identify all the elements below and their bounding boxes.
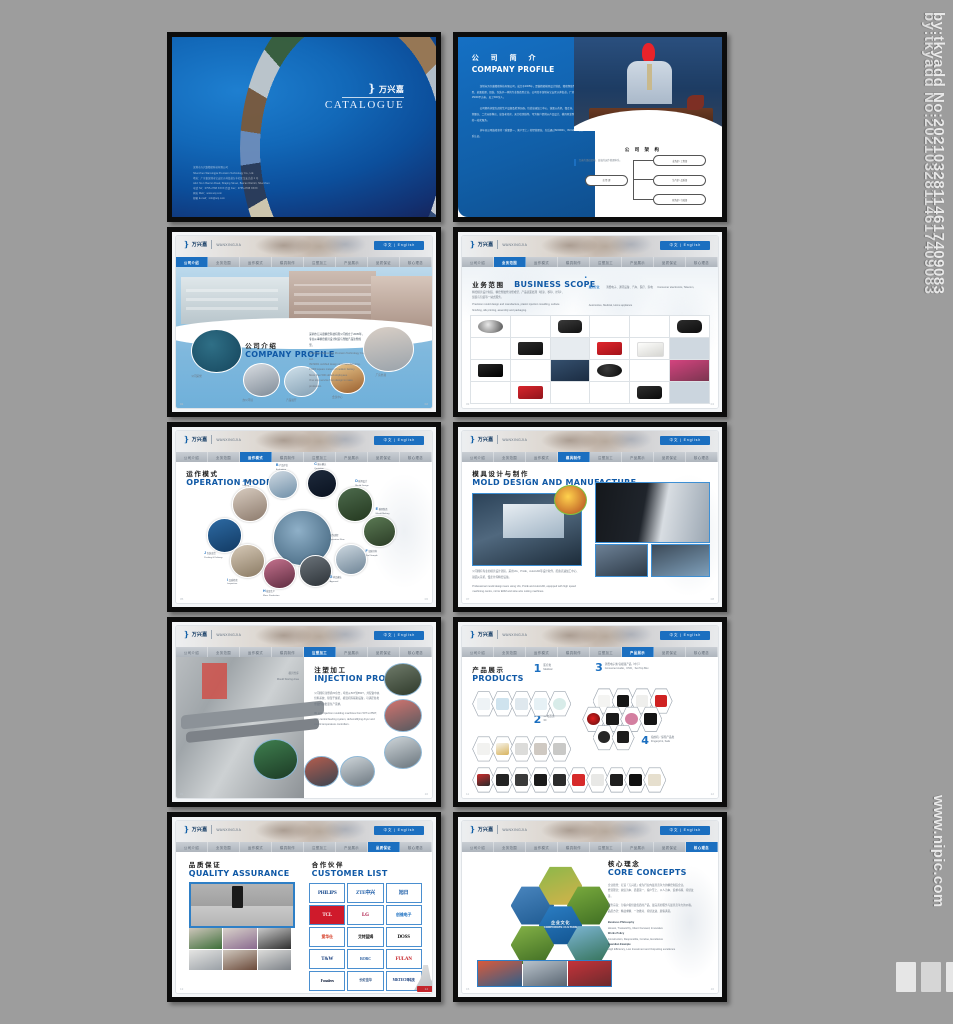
nav-item-3[interactable]: 模具制作 [558,647,590,657]
event-photo [523,961,567,986]
nav-item-2[interactable]: 运作模式 [240,452,272,462]
customer-logo: RORC [347,949,383,969]
nav-item-0[interactable]: 公司介绍 [176,257,208,267]
lab-photo [258,928,291,949]
nav-item-2[interactable]: 运作模式 [240,842,272,852]
page-chrome: ❴ 万兴嘉 WANXINGJIA 中文 | English 公司介绍 业务范围 … [458,622,722,802]
brand-name-cn: 万兴嘉 [379,84,405,95]
page-number-right: 06 [425,597,428,601]
customer-logo: DOSS [386,927,422,947]
spread-operation-mode[interactable]: ❴ 万兴嘉 WANXINGJIA 中文 | English 公司介绍 业务范围 … [167,422,441,612]
page-number-right: 02 [425,402,428,406]
brand-swoosh-icon: ❴ [367,84,376,95]
watermark-url: www.nipic.com [930,795,947,908]
structure-title-cn: 公 司 架 构 [625,147,661,152]
nav-item-5[interactable]: 产品展示 [336,842,368,852]
brand-subtitle: WANXINGJIA [502,243,527,247]
page-number-left: 01 [180,402,183,406]
page-logo: ❴ 万兴嘉 WANXINGJIA [183,240,241,249]
core-line: 品质方针：精益求精、一次做对、持续改进、顾客满意。 [608,909,695,914]
page-chrome: ❴ 万兴嘉 WANXINGJIA 中文 | English 公司介绍 业务范围 … [172,622,436,802]
nav-item-1[interactable]: 业务范围 [494,257,526,267]
photo-honour [191,329,242,373]
page-number-right: 12 [711,792,714,796]
nav-item-3[interactable]: 模具制作 [558,257,590,267]
logo-divider [211,240,212,249]
category-cn: 医疗类 [543,664,551,667]
nav-item-0[interactable]: 公司介绍 [176,452,208,462]
customer-title-cn: 合作伙伴 [312,859,388,869]
nav-item-6[interactable]: 品质保证 [368,647,400,657]
customer-logo: 艾特蓝姆 [347,927,383,947]
spread-products[interactable]: ❴ 万兴嘉 WANXINGJIA 中文 | English 公司介绍 业务范围 … [453,617,727,807]
title-cn: 核心理念 [608,858,687,868]
page-number-left: 03 [466,402,469,406]
redacted-face-marker [642,43,655,64]
page-number-right: 08 [711,597,714,601]
brand-swoosh-icon: ❴ [183,436,190,444]
nav-item-4[interactable]: 注塑加工 [590,842,622,852]
mold-text: 公司拥有专业的模具设计团队，采用UG、Pro/E、AutoCAD等设计软件，配备… [472,569,580,595]
nav-item-5[interactable]: 产品展示 [622,257,654,267]
intro-cn: 深圳市万兴嘉精密科技有限公司成立于2005年，专业从事精密模具设计制造与塑胶产品… [309,332,365,348]
product-cell [590,338,629,359]
page-chrome: ❴ 万兴嘉 WANXINGJIA 中文 | English 公司介绍 业务范围 … [172,232,436,412]
core-line: 经营理念：诚信为本、质量第一、客户至上、以人为本、追求卓越、持续改善。 [608,888,695,899]
org-node-child: 生产部 / 品质部 [653,175,706,186]
category-en: Fingerprint, Safe [651,740,670,743]
page-number-left: 05 [180,597,183,601]
nav-item-2[interactable]: 运作模式 [240,257,272,267]
flow-label-e: E 模具制造 Mould Making [376,507,390,516]
nav-item-6[interactable]: 品质保证 [654,842,686,852]
bullet-icon: ■ [585,275,587,311]
nav-item-1[interactable]: 业务范围 [208,647,240,657]
page-logo: ❴ 万兴嘉 WANXINGJIA [469,240,527,249]
title-en: CORE CONCEPTS [608,868,687,877]
spread-mold-design[interactable]: ❴ 万兴嘉 WANXINGJIA 中文 | English 公司介绍 业务范围 … [453,422,727,612]
nav-item-0[interactable]: 公司介绍 [462,647,494,657]
hex-cell [612,725,635,751]
brand-subtitle: WANXINGJIA [502,633,527,637]
red-banner [202,663,228,700]
product-grid [470,315,711,404]
nav-item-3[interactable]: 模具制作 [558,452,590,462]
nav-item-2[interactable]: 运作模式 [526,257,558,267]
page-logo: ❴ 万兴嘉 WANXINGJIA [469,630,527,639]
nav-item-7[interactable]: 核心理念 [686,452,718,462]
customer-logo: TCL [309,905,345,925]
scope-intro: 精密模具设计制造、精密塑胶件注塑成型、产品表面处理（喷涂、移印、丝印）、组装与包… [472,290,564,314]
category-cn: 消费电子类/音视频产品（中下） [605,663,642,666]
hex-cluster-bottom [593,725,631,751]
org-node-child: 财务部 / 行政部 [653,194,706,205]
nav-item-4[interactable]: 注塑加工 [304,257,336,267]
nav-item-4[interactable]: 注塑加工 [304,452,336,462]
nav-item-0[interactable]: 公司介绍 [462,842,494,852]
title-en: PRODUCTS [472,674,523,683]
nav-item-2[interactable]: 运作模式 [526,452,558,462]
nav-item-3[interactable]: 模具制作 [272,257,304,267]
page-chrome: ❴ 万兴嘉 WANXINGJIA 中文 | English 公司介绍 业务范围 … [458,427,722,607]
customer-logo: T&W [309,949,345,969]
lab-photo-grid [189,928,291,970]
brand-subtitle: WANXINGJIA [216,438,241,442]
nav-item-2[interactable]: 运作模式 [526,647,558,657]
product-cell [670,382,709,403]
catalog-spread-grid: ❴ 万兴嘉 CATALOGUE 深圳市万兴嘉精密科技有限公司 Shenzhen … [167,32,727,1005]
nav-item-3[interactable]: 模具制作 [558,842,590,852]
caption-office: 办公环境 [243,398,253,403]
product-cell [471,316,510,337]
nav-item-3[interactable]: 模具制作 [272,452,304,462]
nav-item-7[interactable]: 核心理念 [686,842,718,852]
mold-closeup-photo [554,485,587,515]
page-logo: ❴ 万兴嘉 WANXINGJIA [183,630,241,639]
cnc-machine-photo [595,482,710,543]
nav-item-7[interactable]: 核心理念 [686,257,718,267]
brand-name-cn: 万兴嘉 [478,631,494,638]
address-line: 邮箱 E-mail：info@wxj.com [193,196,270,201]
spread-quality-assurance[interactable]: ❴ 万兴嘉 WANXINGJIA 中文 | English 公司介绍 业务范围 … [167,812,441,1002]
address-line: Add: No.1 Bao'an Road, Shajing Street, B… [193,181,270,186]
page-logo: ❴ 万兴嘉 WANXINGJIA [469,825,527,834]
photo-caption: 模具仓库 Mould Storing Area [268,671,299,682]
customer-logo: 旭日 [386,883,422,903]
nav-item-6[interactable]: 品质保证 [368,257,400,267]
nav-item-7[interactable]: 核心理念 [400,257,432,267]
screenshot-root: ❴ 万兴嘉 CATALOGUE 深圳市万兴嘉精密科技有限公司 Shenzhen … [0,0,953,1024]
scope-intro-en: Precision mould design and manufacture, … [472,302,564,313]
bullet-detail-en: Consumer electronics, Telecom, Automotiv… [589,286,694,307]
title-en: BUSINESS SCOPE [514,280,595,289]
brand-swoosh-icon: ❴ [183,826,190,834]
language-switch-button[interactable]: 中文 | English [660,826,710,835]
page-nav[interactable]: 公司介绍 业务范围 运作模式 模具制作 注塑加工 产品展示 品质保证 核心理念 [462,842,718,852]
injection-text: 公司拥有注塑机80余台，吨位从50T到850T，并配备中央供料系统、除湿干燥机、… [314,691,381,728]
nav-item-1[interactable]: 业务范围 [208,452,240,462]
category-en: Consumer Audio、DVD、Set Top Box [605,667,649,670]
brand-subtitle: WANXINGJIA [502,438,527,442]
hex-row-3c [472,736,567,762]
necktie [647,64,652,90]
nav-item-5[interactable]: 产品展示 [622,842,654,852]
intro-en-line: One stop service from design to mass pro… [309,378,365,389]
customer-logo-grid: PHILIPS ZTE中兴 旭日 TCL LG 创维电子 爱华仕 艾特蓝姆 DO… [309,883,422,991]
spread-company-profile[interactable]: 公 司 简 介 COMPANY PROFILE 深圳市万兴嘉精密科技有限公司，成… [453,32,727,222]
logo-divider [211,435,212,444]
flow-node-g [299,555,332,587]
customer-logo: 长虹佳华 [347,971,383,991]
nav-item-6[interactable]: 品质保证 [654,452,686,462]
nav-item-7[interactable]: 核心理念 [400,647,432,657]
intro-en-line: Shenzhen Wanxingjia Precision Technology… [309,351,365,362]
nav-item-4[interactable]: 注塑加工 [590,257,622,267]
product-category-3: 3 消费电子类/音视频产品（中下） Consumer Audio、DVD、Set… [595,663,648,673]
hex-center-en: CORPORATE CULTURE [544,926,578,930]
page-number-right: 16 [711,987,714,991]
hex-cell [643,767,666,793]
page-nav[interactable]: 公司介绍 业务范围 运作模式 模具制作 注塑加工 产品展示 品质保证 核心理念 [176,647,432,657]
nav-item-4[interactable]: 注塑加工 [304,647,336,657]
spread-cover[interactable]: ❴ 万兴嘉 CATALOGUE 深圳市万兴嘉精密科技有限公司 Shenzhen … [167,32,441,222]
address-line: 地址：广东省深圳市宝安区沙井街道万丰社区宝安大道 1 号 [193,176,270,181]
hex-row-medical [472,691,567,717]
brand-subtitle: WANXINGJIA [216,633,241,637]
title-cn: 模具设计与制作 [472,468,636,478]
product-cell [551,382,590,403]
cover-brand: ❴ 万兴嘉 CATALOGUE [325,84,405,111]
structure-tick [574,159,576,166]
nav-item-4[interactable]: 注塑加工 [590,452,622,462]
flow-node-d [337,487,372,521]
lab-photo [258,950,291,971]
page-title: 核心理念 CORE CONCEPTS [608,858,687,877]
logo-divider [497,240,498,249]
brand-rule [342,97,404,98]
product-cell [590,360,629,381]
nav-item-7[interactable]: 核心理念 [400,842,432,852]
page-number-left: 15 [466,987,469,991]
flow-label-f: F 试模打样 Trial Sample [365,549,377,558]
page-nav[interactable]: 公司介绍 业务范围 运作模式 模具制作 注塑加工 产品展示 品质保证 核心理念 [462,257,718,267]
nav-item-3[interactable]: 模具制作 [272,842,304,852]
product-cell [551,316,590,337]
page-number-left: 11 [466,792,469,796]
flow-node-j [207,518,242,552]
page-logo: ❴ 万兴嘉 WANXINGJIA [183,825,241,834]
profile-title-en: COMPANY PROFILE [472,65,555,74]
language-switch-button[interactable]: 中文 | English [660,241,710,250]
nav-item-6[interactable]: 品质保证 [368,452,400,462]
nav-item-5[interactable]: 产品展示 [336,257,368,267]
spread-business-scope[interactable]: ❴ 万兴嘉 WANXINGJIA 中文 | English 公司介绍 业务范围 … [453,227,727,417]
spread-core-concepts[interactable]: ❴ 万兴嘉 WANXINGJIA 中文 | English 公司介绍 业务范围 … [453,812,727,1002]
profile-paragraph: 深圳市万兴嘉精密科技有限公司，成立于2005年，是集精密模具设计制造、精密塑胶件… [472,84,585,101]
product-category-1: 1 医疗类 Medical [534,664,553,674]
org-arm [633,160,652,161]
profile-paragraph: 公司拥有多套先进的生产设备及检测仪器，包括高速加工中心、镜面火花机、慢走丝、三次… [472,106,585,123]
product-cell [670,360,709,381]
title-en: OPERATION MODE [186,478,272,487]
brand-name-cn: 万兴嘉 [192,826,208,833]
flow-label-h: H 批量生产 Mass Production [263,589,279,598]
org-node-child: 业务部 / 工程部 [653,155,706,166]
product-cell [511,360,550,381]
logo-divider [211,825,212,834]
page-chrome: ❴ 万兴嘉 WANXINGJIA 中文 | English 公司介绍 业务范围 … [458,817,722,997]
brand-subtitle: WANXINGJIA [216,243,241,247]
logo-divider [497,630,498,639]
injection-photo-4 [340,756,375,788]
profile-paragraphs: 深圳市万兴嘉精密科技有限公司，成立于2005年，是集精密模具设计制造、精密塑胶件… [472,84,585,145]
flow-node-c [307,469,337,498]
customer-logo: 创维电子 [386,905,422,925]
spread-company-introduction[interactable]: ❴ 万兴嘉 WANXINGJIA 中文 | English 公司介绍 业务范围 … [167,227,441,417]
nav-item-7[interactable]: 核心理念 [400,452,432,462]
customer-logo: 爱华仕 [309,927,345,947]
product-cell [551,360,590,381]
language-switch-button[interactable]: 中文 | English [374,241,424,250]
nav-item-0[interactable]: 公司介绍 [462,452,494,462]
nav-item-1[interactable]: 业务范围 [208,842,240,852]
page-chrome: ❴ 万兴嘉 WANXINGJIA 中文 | English 公司介绍 业务范围 … [172,817,436,997]
brand-name-cn: 万兴嘉 [192,241,208,248]
nav-item-1[interactable]: 业务范围 [494,842,526,852]
product-cell [471,338,510,359]
caption-showroom: 产品展厅 [286,398,296,403]
injection-photo-1 [384,663,422,696]
logo-divider [211,630,212,639]
hex-cell [639,706,662,732]
core-text: 企业愿景：打造「万兴嘉」成为行业内最具竞争力的精密制造企业。 经营理念：诚信为本… [608,883,695,953]
customer-logo: FULAN [386,949,422,969]
event-photo [478,961,522,986]
bullet-label: 服务行业： [589,286,602,289]
customer-logo: LG [347,905,383,925]
product-cell [670,316,709,337]
language-switch-button[interactable]: 中文 | English [374,826,424,835]
product-cell [471,360,510,381]
nav-item-0[interactable]: 公司介绍 [462,257,494,267]
lab-photo [189,950,222,971]
nav-item-7[interactable]: 核心理念 [686,647,718,657]
brand-name-cn: 万兴嘉 [478,241,494,248]
core-line: 服务宗旨：为客户提供最优质的产品、最完善的服务与最具竞争力的价格。 [608,903,695,908]
nav-item-5[interactable]: 产品展示 [336,452,368,462]
nav-item-6[interactable]: 品质保证 [654,257,686,267]
language-switch-button[interactable]: 中文 | English [660,436,710,445]
category-number: 1 [534,664,542,674]
customer-title: 合作伙伴 CUSTOMER LIST [312,859,388,878]
product-cell [511,316,550,337]
language-switch-button[interactable]: 中文 | English [374,436,424,445]
page-nav[interactable]: 公司介绍 业务范围 运作模式 模具制作 注塑加工 产品展示 品质保证 核心理念 [176,842,432,852]
nav-item-2[interactable]: 运作模式 [526,842,558,852]
title-cn: 运作模式 [186,468,272,478]
injection-photo-3 [384,736,422,769]
nav-item-5[interactable]: 产品展示 [622,647,654,657]
nav-item-0[interactable]: 公司介绍 [176,842,208,852]
building-block [371,276,432,327]
product-cell [590,382,629,403]
scope-intro-cn: 精密模具设计制造、精密塑胶件注塑成型、产品表面处理（喷涂、移印、丝印）、组装与包… [472,290,564,301]
nav-item-6[interactable]: 品质保证 [654,647,686,657]
nav-item-2[interactable]: 运作模式 [240,647,272,657]
flow-label-j: J 包装出货 Packing & Delivery [204,551,222,560]
page-logo: ❴ 万兴嘉 WANXINGJIA [183,435,241,444]
hex-cell [548,736,571,762]
profile-title-cn: 公 司 简 介 [472,53,555,63]
org-arm [633,199,652,200]
hex-cell [548,691,571,717]
chairman-photo [574,37,722,131]
nav-item-0[interactable]: 公司介绍 [176,647,208,657]
flow-node-b [268,470,298,499]
language-switch-button[interactable]: 中文 | English [660,631,710,640]
nav-item-4[interactable]: 注塑加工 [304,842,336,852]
product-cell [630,316,669,337]
flow-label-d: D 模具设计 Mould Design [355,479,368,488]
page-nav[interactable]: 公司介绍 业务范围 运作模式 模具制作 注塑加工 产品展示 品质保证 核心理念 [462,452,718,462]
cmm-probe [232,886,242,909]
desk-ornament [687,95,705,110]
product-cell [511,382,550,403]
language-switch-button[interactable]: 中文 | English [374,631,424,640]
nav-item-1[interactable]: 业务范围 [494,452,526,462]
page-nav[interactable]: 公司介绍 业务范围 运作模式 模具制作 注塑加工 产品展示 品质保证 核心理念 [176,257,432,267]
product-cell [551,338,590,359]
brand-subtitle: WANXINGJIA [502,828,527,832]
inspection-photo [651,544,709,577]
category-cn: 指纹机／保险产品类 [651,736,674,739]
page-chrome: ❴ 万兴嘉 WANXINGJIA 中文 | English 公司介绍 业务范围 … [172,427,436,607]
nav-item-1[interactable]: 业务范围 [494,647,526,657]
page-title: 产品展示 PRODUCTS [472,664,523,683]
injection-photo-2 [384,699,422,732]
nav-item-1[interactable]: 业务范围 [208,257,240,267]
page-title: 运作模式 OPERATION MODE [186,468,272,487]
nav-item-6[interactable]: 品质保证 [368,842,400,852]
event-photo-strip [477,960,612,987]
page-number-right: 04 [711,402,714,406]
product-cell [630,360,669,381]
brand-swoosh-icon: ❴ [469,241,476,249]
org-node-root: 总 经 理 [585,175,628,186]
flow-label-b: B 产品评估 Evaluation [276,463,288,472]
brand-name-cn: 万兴嘉 [192,631,208,638]
page-number-left: 09 [180,792,183,796]
page-number-left: 13 [180,987,183,991]
caption-honour: 公司荣誉 [191,374,201,379]
page-number-right: 10 [425,792,428,796]
page-nav[interactable]: 公司介绍 业务范围 运作模式 模具制作 注塑加工 产品展示 品质保证 核心理念 [462,647,718,657]
caption-meeting: 会议中心 [332,395,342,400]
title-cn: 品质保证 [189,859,290,869]
profile-paragraph: 多年来公司始终坚持「质量第一、客户至上」的经营理念，先后通过ISO9001、IS… [472,128,585,140]
lab-photo [189,928,222,949]
flow-label-i: I 品质检验 Inspection [227,578,237,587]
nav-item-4[interactable]: 注塑加工 [590,647,622,657]
value-body: High Efficiency, Low Investment and Outp… [608,947,695,952]
caption-factory: 厂房外观 [376,373,386,378]
spread-injection-process[interactable]: ❴ 万兴嘉 WANXINGJIA 中文 | English 公司介绍 业务范围 … [167,617,441,807]
customer-logo: PHILIPS [309,883,345,903]
mold-paragraph-en: Professional mould design team using UG,… [472,584,580,595]
injection-paragraph-en: 80 sets injection moulding machines from… [314,711,381,727]
title-cn: 业务范围 [472,282,504,289]
nav-item-5[interactable]: 产品展示 [336,647,368,657]
lab-photo [223,950,256,971]
brand-swoosh-icon: ❴ [469,826,476,834]
watermark-id: by:tkyadd No:20210328114617409083 [930,12,947,295]
title-en: QUALITY ASSURANCE [189,869,290,878]
logo-divider [497,435,498,444]
product-cell [630,338,669,359]
flow-node-e [363,516,396,548]
profile-artwork: 公 司 简 介 COMPANY PROFILE 深圳市万兴嘉精密科技有限公司，成… [458,37,722,217]
nav-item-5[interactable]: 产品展示 [622,452,654,462]
page-number-left: 07 [466,597,469,601]
cover-address-block: 深圳市万兴嘉精密科技有限公司 Shenzhen Wanxingjia Preci… [193,165,270,200]
brand-subtitle: WANXINGJIA [216,828,241,832]
page-nav[interactable]: 公司介绍 业务范围 运作模式 模具制作 注塑加工 产品展示 品质保证 核心理念 [176,452,432,462]
mold-paragraph-cn: 公司拥有专业的模具设计团队，采用UG、Pro/E、AutoCAD等设计软件，配备… [472,569,580,580]
nav-item-3[interactable]: 模具制作 [272,647,304,657]
customer-logo: ZTE中兴 [347,883,383,903]
photo-factory-building [363,326,414,372]
page-title: 品质保证 QUALITY ASSURANCE [189,859,290,878]
